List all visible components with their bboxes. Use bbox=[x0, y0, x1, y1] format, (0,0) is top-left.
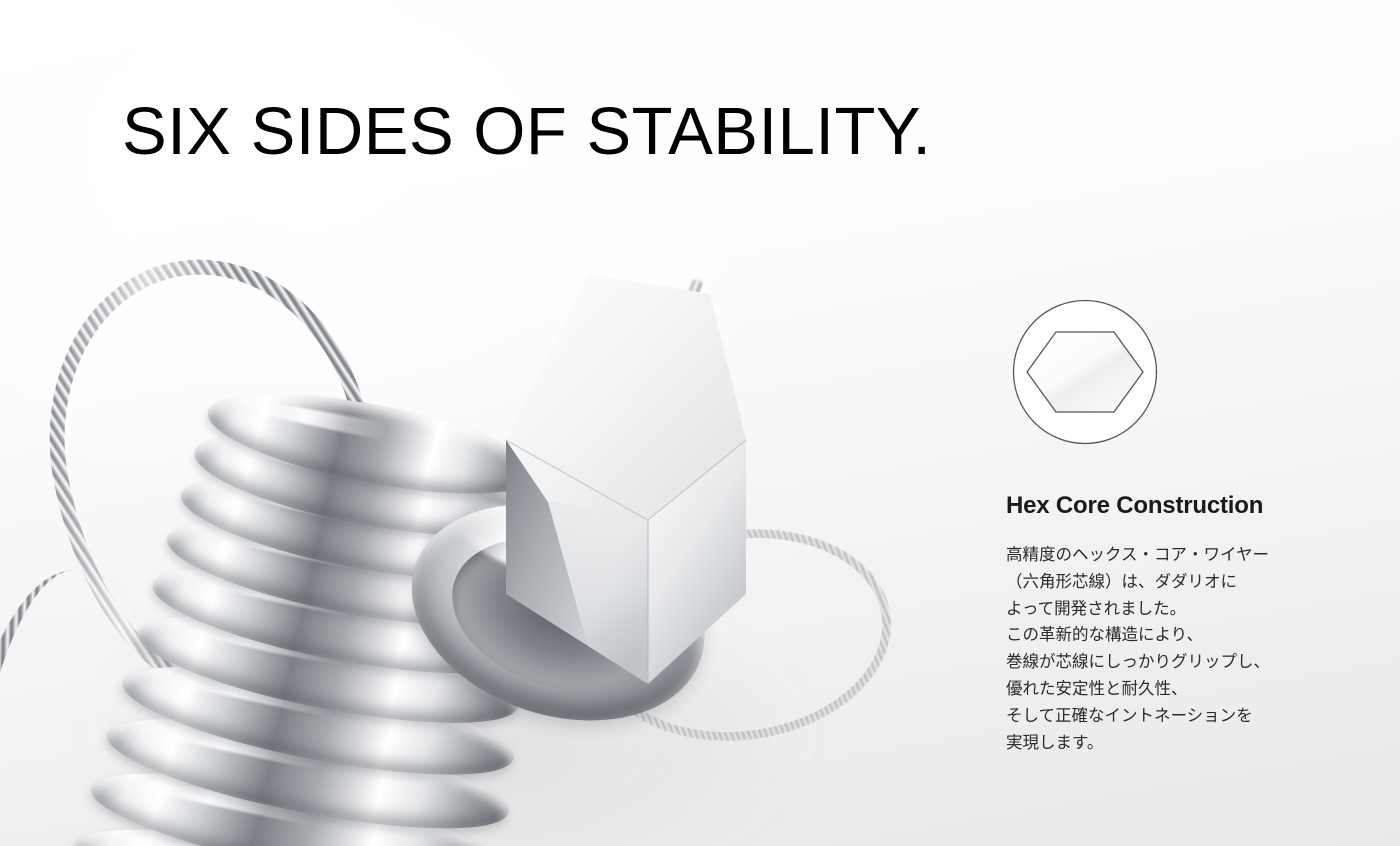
hexagon-in-circle-icon bbox=[1010, 296, 1160, 448]
body-line: 優れた安定性と耐久性、 bbox=[1006, 676, 1336, 703]
hex-core-svg bbox=[448, 264, 768, 684]
body-line: この革新的な構造により、 bbox=[1006, 622, 1336, 649]
panel-title: Hex Core Construction bbox=[1006, 492, 1336, 520]
body-line: 巻線が芯線にしっかりグリップし、 bbox=[1006, 649, 1336, 676]
info-panel: Hex Core Construction 高精度のヘックス・コア・ワイヤー （… bbox=[1006, 296, 1336, 756]
body-line: 実現します。 bbox=[1006, 730, 1336, 757]
body-line: （六角形芯線）は、ダダリオに bbox=[1006, 569, 1336, 596]
hex-core-prism bbox=[448, 264, 768, 684]
page-title: SIX SIDES OF STABILITY. bbox=[122, 98, 932, 165]
panel-body: 高精度のヘックス・コア・ワイヤー （六角形芯線）は、ダダリオに よって開発されま… bbox=[1006, 542, 1336, 756]
product-image bbox=[0, 180, 980, 846]
body-line: よって開発されました。 bbox=[1006, 596, 1336, 623]
body-line: 高精度のヘックス・コア・ワイヤー bbox=[1006, 542, 1336, 569]
body-line: そして正確なイントネーションを bbox=[1006, 703, 1336, 730]
hero-banner: SIX SIDES OF STABILITY. bbox=[0, 0, 1400, 846]
